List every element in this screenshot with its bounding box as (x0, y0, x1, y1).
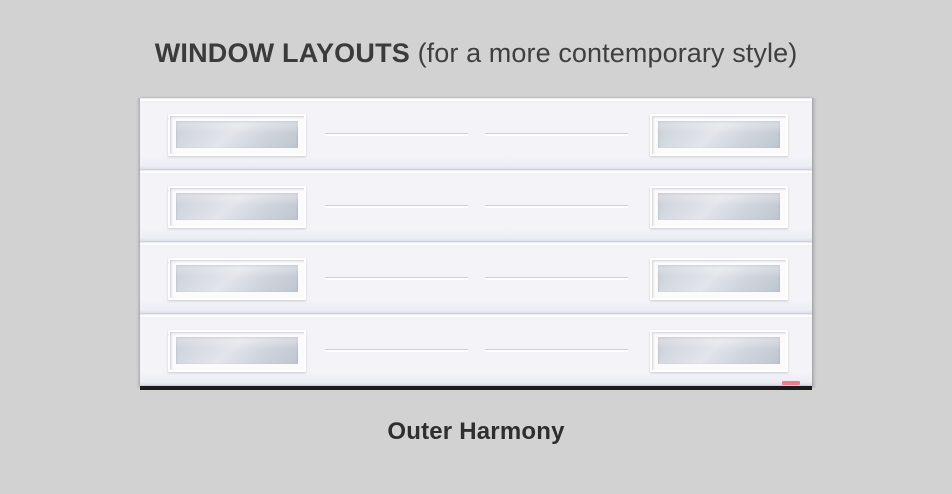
groove-left (325, 349, 468, 352)
window-right (650, 330, 788, 372)
window-left (168, 186, 306, 228)
door-panel-row-2 (140, 170, 812, 242)
window-glass (176, 193, 298, 220)
glass-sheen (658, 121, 780, 133)
groove-right (485, 205, 628, 208)
glass-sheen (176, 265, 298, 277)
page-title-strong: WINDOW LAYOUTS (155, 38, 410, 68)
window-right (650, 114, 788, 156)
page-title-subtitle: (for a more contemporary style) (410, 38, 797, 68)
window-glass (658, 121, 780, 148)
door-panel-row-1 (140, 98, 812, 170)
groove-left (325, 277, 468, 280)
window-glass (658, 265, 780, 292)
window-left (168, 330, 306, 372)
groove-right (485, 349, 628, 352)
glass-sheen (658, 193, 780, 205)
window-left (168, 258, 306, 300)
panel-highlight (140, 243, 812, 245)
groove-left (325, 133, 468, 136)
window-bevel (652, 116, 786, 154)
window-layouts-page: { "page": { "background_color": "#d2d2d2… (0, 0, 952, 494)
door-right-shadow (812, 98, 817, 388)
panel-highlight (140, 171, 812, 173)
glass-sheen (658, 265, 780, 277)
groove-right (485, 277, 628, 280)
window-bevel (652, 332, 786, 370)
door-panel-row-3 (140, 242, 812, 314)
glass-sheen (658, 337, 780, 349)
page-title: WINDOW LAYOUTS (for a more contemporary … (0, 38, 952, 69)
groove-right (485, 133, 628, 136)
panel-highlight (140, 315, 812, 317)
window-right (650, 186, 788, 228)
glass-sheen (176, 193, 298, 205)
garage-door-illustration (140, 98, 812, 390)
groove-left (325, 205, 468, 208)
bottom-seal-marker (782, 381, 800, 385)
window-bevel (170, 260, 304, 298)
panel-highlight (140, 99, 812, 101)
window-glass (176, 265, 298, 292)
window-glass (658, 193, 780, 220)
window-glass (658, 337, 780, 364)
product-caption: Outer Harmony (0, 418, 952, 446)
window-bevel (170, 332, 304, 370)
window-bevel (170, 188, 304, 226)
window-bevel (652, 188, 786, 226)
door-panel-row-4 (140, 314, 812, 386)
window-left (168, 114, 306, 156)
window-bevel (652, 260, 786, 298)
bottom-seal (140, 386, 812, 390)
window-bevel (170, 116, 304, 154)
glass-sheen (176, 337, 298, 349)
garage-door (140, 98, 812, 386)
window-glass (176, 337, 298, 364)
window-glass (176, 121, 298, 148)
glass-sheen (176, 121, 298, 133)
window-right (650, 258, 788, 300)
